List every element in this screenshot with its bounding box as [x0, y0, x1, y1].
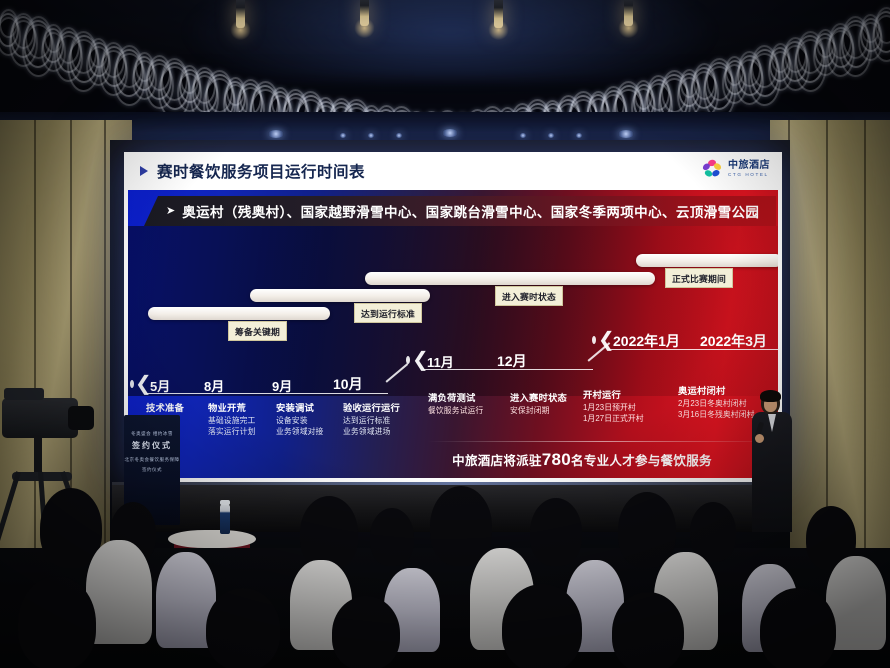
- chandelier-ring: [224, 81, 246, 116]
- chandelier-ring: [89, 38, 108, 68]
- audience-head: [618, 492, 676, 568]
- gantt-bar-4: [636, 254, 778, 267]
- table-top: [168, 530, 256, 548]
- chandelier-ring: [54, 35, 83, 82]
- detail-line: 达到运行标准: [343, 416, 400, 427]
- chandelier-ring: [826, 30, 855, 77]
- chandelier-ring: [735, 59, 764, 106]
- chandelier-ring: [873, 11, 890, 52]
- downlight: [576, 133, 582, 138]
- detail-line: 设备安装: [276, 416, 323, 427]
- detail-column: 进入赛时状态 安保封闭期: [510, 390, 567, 417]
- venues-ribbon-text: 奥运村（残奥村）、国家越野滑雪中心、国家跳台滑雪中心、国家冬季两项中心、云顶滑雪…: [182, 201, 759, 221]
- chandelier-ring: [751, 45, 778, 88]
- audience-head: [332, 596, 400, 668]
- detail-line: 1月23日预开村: [583, 403, 644, 414]
- slide: 赛时餐饮服务项目运行时间表: [124, 152, 782, 482]
- chandelier-ring: [794, 39, 827, 92]
- slide-title: 赛时餐饮服务项目运行时间表: [157, 160, 365, 182]
- detail-line: 安保封闭期: [510, 406, 567, 417]
- brand-name-cn: 中旅酒店: [728, 161, 770, 171]
- downlight: [396, 133, 402, 138]
- chandelier-ring: [44, 24, 63, 54]
- flower-logo-icon: [701, 158, 723, 180]
- chandelier-ring: [839, 24, 872, 77]
- detail-title: 奥运村闭村: [678, 383, 754, 397]
- podium-text: 冬奥盛会 相约冰雪 签约仪式 北京冬奥会餐饮服务保障签约仪式: [124, 429, 180, 474]
- downlight: [268, 130, 284, 138]
- chandelier-ring: [114, 49, 144, 97]
- podium-top-line: 冬奥盛会 相约冰雪: [124, 429, 180, 438]
- ceiling-glow: [180, 0, 720, 80]
- month-label: 2022年3月: [700, 331, 767, 351]
- chandelier-ring: [0, 17, 21, 57]
- brand-name-en: CTG HOTEL: [728, 173, 770, 178]
- slide-footnote: 中旅酒店将派驻780名专业人才参与餐饮服务: [128, 450, 778, 470]
- chandelier-ring: [25, 16, 52, 59]
- slide-body: ➤ 奥运村（残奥村）、国家越野滑雪中心、国家跳台滑雪中心、国家冬季两项中心、云顶…: [128, 190, 778, 478]
- audience-head: [370, 508, 414, 566]
- detail-line: 业务领域对接: [276, 427, 323, 438]
- chandelier-ring: [795, 35, 825, 83]
- chandelier-ring: [750, 49, 780, 97]
- downlight: [442, 129, 458, 137]
- chandelier-ring: [22, 24, 55, 77]
- triangle-arrow-icon: [140, 166, 148, 176]
- brand-logo-text: 中旅酒店 CTG HOTEL: [728, 161, 770, 178]
- chandelier-ring: [148, 55, 171, 91]
- chandelier-ring: [784, 37, 807, 73]
- chandelier-ring: [841, 20, 871, 68]
- chandelier-ring: [88, 42, 110, 77]
- audience-head: [18, 576, 96, 668]
- chandelier-ring: [858, 22, 883, 62]
- chandelier-ring: [113, 53, 146, 106]
- month-label: 12月: [497, 351, 527, 371]
- water-bottle: [220, 504, 230, 534]
- chandelier-ring: [814, 33, 836, 68]
- chandelier-ring: [99, 50, 128, 97]
- phase-tag: 达到运行标准: [354, 303, 422, 323]
- chandelier-ring: [781, 45, 810, 92]
- chevron-right-icon: ➤: [166, 206, 175, 217]
- chandelier-ring: [828, 27, 854, 68]
- detail-title: 验收运行运行: [343, 400, 400, 414]
- detail-title: 满负荷测试: [428, 390, 483, 404]
- month-label: 10月: [333, 374, 363, 394]
- detail-title: 进入赛时状态: [510, 390, 567, 404]
- downlight: [340, 133, 346, 138]
- chandelier-ring: [748, 53, 781, 106]
- phase-tag: 筹备关键期: [228, 321, 287, 341]
- chandelier-ring: [737, 55, 763, 96]
- tripod-column: [34, 436, 42, 476]
- detail-line: 3月16日冬残奥村闭村: [678, 410, 754, 421]
- led-presentation-screen: 赛时餐饮服务项目运行时间表: [124, 152, 782, 482]
- axis-dot: [592, 336, 596, 344]
- detail-line: 餐饮服务试运行: [428, 406, 483, 417]
- chandelier-ring: [634, 80, 653, 110]
- chandelier-ring: [86, 46, 111, 86]
- camera-lens: [68, 406, 94, 430]
- brand-logo: 中旅酒店 CTG HOTEL: [701, 158, 770, 180]
- chandelier-ring: [146, 59, 172, 100]
- chandelier-ring: [57, 27, 80, 63]
- footnote-number: 780: [542, 450, 571, 469]
- chandelier-ring: [771, 43, 790, 73]
- chandelier-ring: [872, 15, 890, 62]
- chandelier-ring: [10, 16, 36, 57]
- axis-dot: [130, 380, 134, 388]
- chandelier-ring: [782, 41, 808, 82]
- month-label: 2022年1月: [613, 331, 680, 351]
- detail-column: 安装调试 设备安装 业务领域对接: [276, 400, 323, 437]
- gantt-bar-1: [148, 307, 330, 320]
- spotlight: [236, 0, 245, 28]
- chandelier-ring: [725, 56, 744, 86]
- month-label: 8月: [204, 376, 224, 395]
- presenter-hand: [755, 434, 764, 443]
- chandelier-ring: [145, 63, 174, 110]
- downlight: [520, 133, 526, 138]
- chandelier-ring: [797, 31, 824, 74]
- chandelier-ring: [860, 18, 882, 53]
- spotlight: [360, 0, 369, 26]
- detail-column: 奥运村闭村 2月23日冬奥村闭村 3月16日冬残奥村闭村: [678, 383, 754, 420]
- audience-head: [430, 486, 492, 566]
- chandelier-ring: [135, 52, 154, 82]
- conference-room-scene: 赛时餐饮服务项目运行时间表: [0, 0, 890, 668]
- venues-ribbon: ➤ 奥运村（残奥村）、国家越野滑雪中心、国家跳台滑雪中心、国家冬季两项中心、云顶…: [144, 196, 776, 226]
- gantt-bar-3: [365, 272, 655, 285]
- chandelier-ring: [768, 51, 793, 91]
- camera-hood: [4, 388, 44, 400]
- detail-column: 开村运行 1月23日预开村 1月27日正式开村: [583, 387, 644, 424]
- chandelier-ring: [239, 79, 262, 115]
- gantt-bar-2: [250, 289, 430, 302]
- presenter: [752, 392, 792, 532]
- chandelier-ring: [722, 64, 747, 104]
- chandelier-ring: [829, 23, 852, 59]
- phase-tag: 进入赛时状态: [495, 286, 563, 306]
- chandelier-ring: [70, 31, 97, 74]
- chandelier-ring: [226, 77, 245, 107]
- camera-body: [2, 398, 78, 438]
- chandelier-ring: [842, 16, 869, 59]
- chandelier-ring: [724, 60, 746, 95]
- chandelier-ring: [738, 51, 761, 87]
- chandelier-ring: [67, 39, 100, 92]
- detail-line: 基础设施完工: [208, 416, 255, 427]
- audience-head: [530, 498, 582, 566]
- podium-big-line: 签约仪式: [124, 438, 180, 455]
- audience-head: [612, 592, 684, 668]
- podium-sub-line: 北京冬奥会餐饮服务保障签约仪式: [124, 455, 180, 474]
- chandelier-ring: [769, 47, 791, 82]
- chandelier-ring: [12, 13, 35, 49]
- detail-column: 满负荷测试 餐饮服务试运行: [428, 390, 483, 417]
- chandelier-ring: [0, 9, 18, 39]
- detail-title: 开村运行: [583, 387, 644, 401]
- chandelier-ring: [116, 45, 143, 88]
- chandelier-ring: [9, 20, 38, 67]
- detail-column: 物业开荒 基础设施完工 落实运行计划: [208, 400, 255, 437]
- month-label: 11月: [427, 352, 454, 371]
- chandelier-ring: [861, 14, 880, 44]
- chandelier-ring: [102, 42, 125, 78]
- footnote-before: 中旅酒店将派驻: [452, 454, 542, 468]
- chandelier-ring: [101, 46, 127, 87]
- chandelier-ring: [677, 77, 702, 117]
- footnote-after: 名专业人才参与餐饮服务: [571, 454, 712, 468]
- chandelier-ring: [132, 60, 157, 100]
- phase-tag: 正式比赛期间: [665, 268, 733, 288]
- spotlight: [624, 0, 633, 26]
- tripod-leg: [0, 471, 21, 541]
- downlight: [548, 133, 554, 138]
- detail-title: 安装调试: [276, 400, 323, 414]
- detail-line: 业务领域进场: [343, 427, 400, 438]
- month-label: 5月: [150, 376, 170, 395]
- detail-line: 1月27日正式开村: [583, 414, 644, 425]
- detail-title: 技术准备: [146, 400, 184, 414]
- spotlight: [494, 0, 503, 28]
- detail-title: 物业开荒: [208, 400, 255, 414]
- audience-head: [300, 496, 358, 570]
- audience-head: [502, 584, 582, 668]
- slide-header: 赛时餐饮服务项目运行时间表: [124, 152, 782, 190]
- chandelier-ring: [647, 75, 670, 111]
- footer-divider: [428, 441, 778, 442]
- chandelier-ring: [69, 35, 99, 83]
- presenter-hair: [760, 390, 781, 402]
- chandelier-ring: [23, 20, 53, 68]
- chandelier-ring: [816, 29, 835, 59]
- audience-head: [206, 588, 280, 668]
- month-label: 9月: [272, 376, 292, 395]
- downlight: [368, 133, 374, 138]
- downlight: [618, 130, 634, 138]
- detail-column: 验收运行运行 达到运行标准 业务领域进场: [343, 400, 400, 437]
- chandelier-ring: [41, 32, 66, 72]
- audience-head: [760, 588, 836, 668]
- bottle-cap: [220, 500, 230, 505]
- chandelier-ring: [56, 31, 82, 72]
- chandelier-ring: [875, 7, 890, 43]
- detail-line: 2月23日冬奥村闭村: [678, 399, 754, 410]
- stage-edge-light: [112, 482, 788, 485]
- chandelier-ring: [42, 28, 64, 63]
- detail-line: 落实运行计划: [208, 427, 255, 438]
- chandelier-ring: [813, 37, 838, 77]
- chandelier-ring: [133, 56, 155, 91]
- chandelier-ring: [0, 13, 19, 48]
